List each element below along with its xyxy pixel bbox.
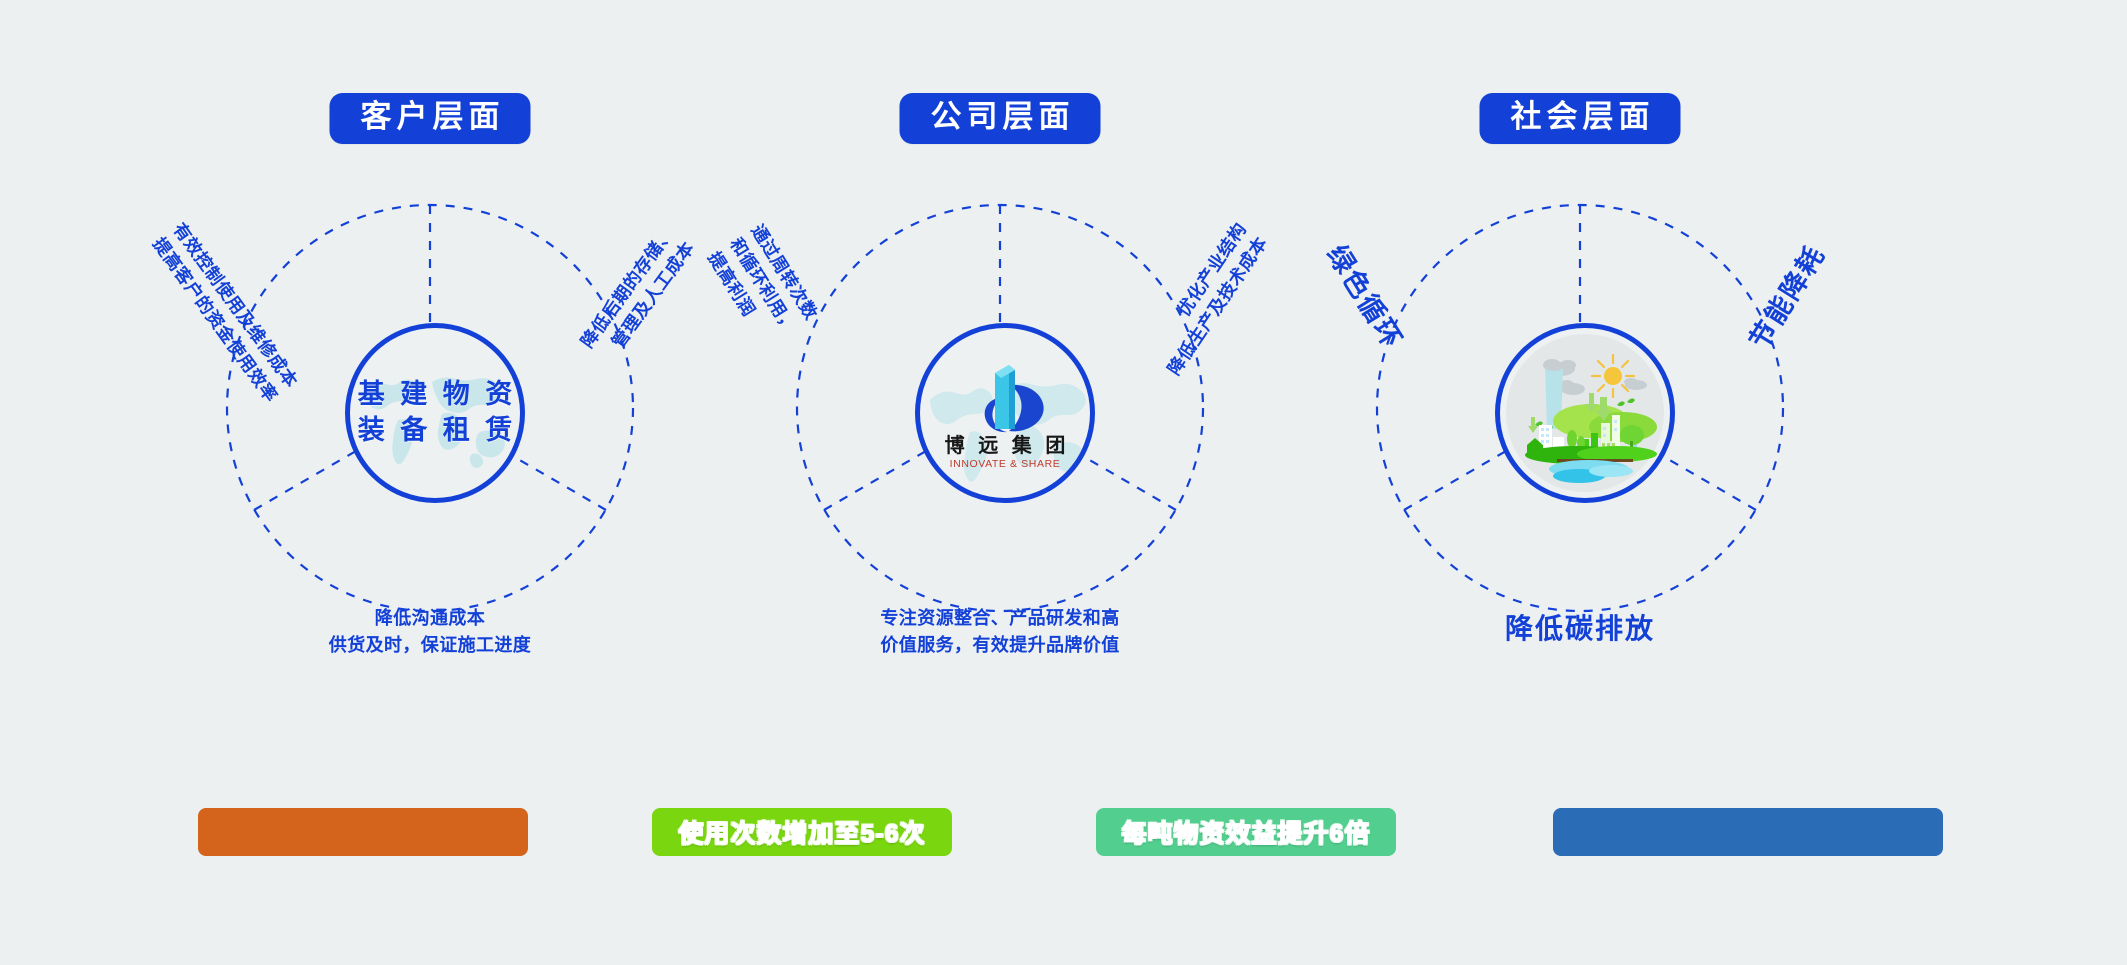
boyuan-group-logo: 博 远 集 团 INNOVATE & SHARE: [930, 336, 1080, 490]
pill-label-social-level: 社会层面: [1480, 93, 1681, 144]
bottom-caption-customer: 降低沟通成本 供货及时，保证施工进度: [329, 605, 531, 659]
bottom-caption-line2: 价值服务，有效提升品牌价值: [880, 632, 1119, 659]
core-circle-social: [1495, 323, 1675, 503]
bar-green-soft[interactable]: 每吨物资效益提升6倍: [1096, 808, 1396, 856]
green-city-eco-icon: [1505, 333, 1665, 493]
eco-illustration: [1505, 333, 1665, 493]
spoke-lower-left: [824, 451, 926, 510]
bar-green-bright[interactable]: 使用次数增加至5-6次: [652, 808, 952, 856]
logo-mark-icon: [957, 361, 1053, 435]
core-title-customer: 基 建 物 资 装 备 租 赁: [354, 377, 517, 449]
pill-label-company-level: 公司层面: [900, 93, 1101, 144]
bottom-caption-line2: 供货及时，保证施工进度: [329, 632, 531, 659]
spoke-lower-left: [254, 451, 356, 510]
bar-orange[interactable]: [198, 808, 528, 856]
cluster-social-level: 社会层面: [1230, 0, 1930, 760]
core-circle-customer: 基 建 物 资 装 备 租 赁: [345, 323, 525, 503]
logo-company-name-cn: 博 远 集 团: [941, 436, 1070, 456]
bar-blue[interactable]: [1553, 808, 1943, 856]
core-circle-company: 博 远 集 团 INNOVATE & SHARE: [915, 323, 1095, 503]
bottom-caption-line1: 专注资源整合、产品研发和高: [880, 605, 1119, 632]
bottom-caption-social: 降低碳排放: [1505, 608, 1655, 650]
bottom-caption-line1: 降低碳排放: [1505, 608, 1655, 650]
bottom-caption-company: 专注资源整合、产品研发和高 价值服务，有效提升品牌价值: [880, 605, 1119, 659]
bottom-caption-line1: 降低沟通成本: [329, 605, 531, 632]
spoke-lower-left: [1404, 451, 1506, 510]
core-title-line2: 装 备 租 赁: [354, 413, 517, 449]
pill-label-customer-level: 客户层面: [330, 93, 531, 144]
core-title-line1: 基 建 物 资: [354, 377, 517, 413]
logo-company-tagline-en: INNOVATE & SHARE: [950, 459, 1061, 470]
bottom-bar-row: 使用次数增加至5-6次 每吨物资效益提升6倍: [0, 808, 2127, 868]
spoke-lower-right: [1654, 451, 1756, 510]
